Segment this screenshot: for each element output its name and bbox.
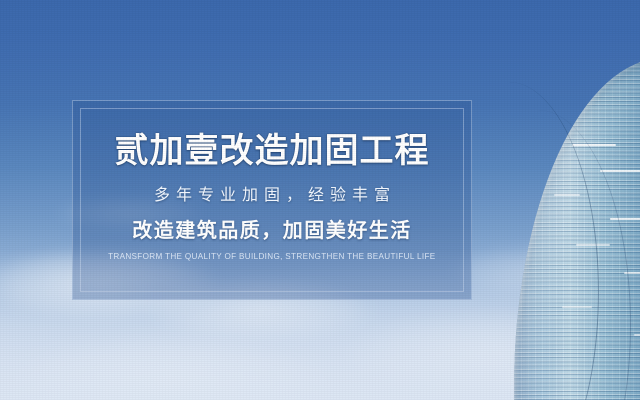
skyscraper [496,0,640,400]
banner-subtitle: 多年专业加固，经验丰富 [148,188,396,204]
banner-tagline-cn: 改造建筑品质，加固美好生活 [132,221,412,241]
banner-tagline-en: TRANSFORM THE QUALITY OF BUILDING, STREN… [108,252,435,260]
hero-banner: 贰加壹改造加固工程 多年专业加固，经验丰富 改造建筑品质，加固美好生活 TRAN… [0,0,640,400]
tower-edge-highlight [514,58,640,400]
tower-body [514,58,640,400]
text-panel: 贰加壹改造加固工程 多年专业加固，经验丰富 改造建筑品质，加固美好生活 TRAN… [72,100,472,300]
panel-content: 贰加壹改造加固工程 多年专业加固，经验丰富 改造建筑品质，加固美好生活 TRAN… [73,101,471,299]
banner-title: 贰加壹改造加固工程 [115,134,430,168]
